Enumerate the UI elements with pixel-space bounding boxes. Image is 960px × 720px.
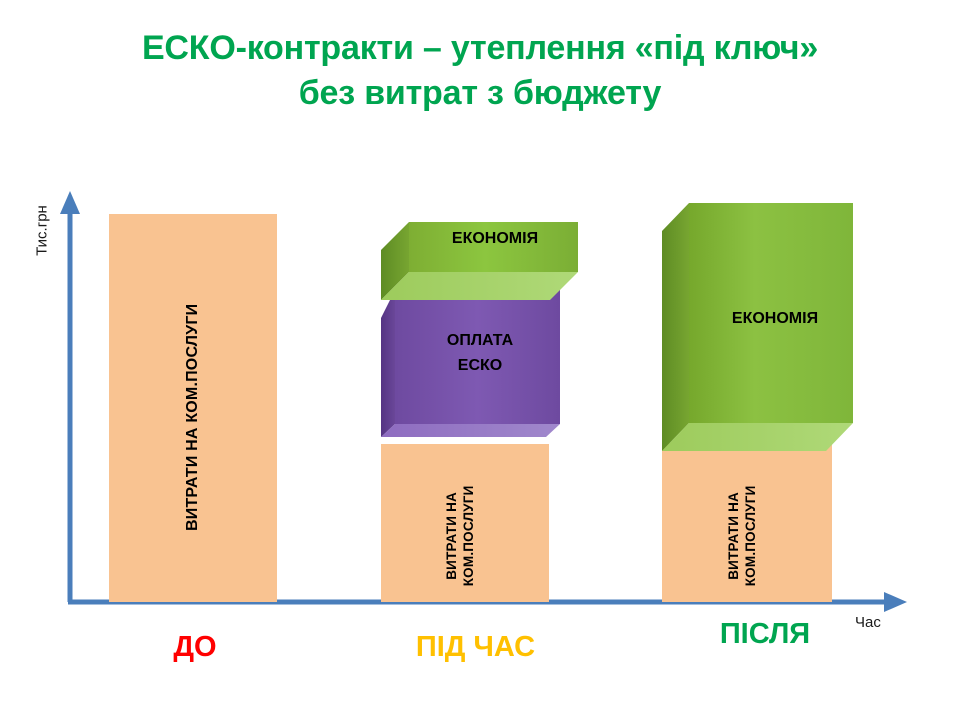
bar-group-during[interactable] <box>381 222 578 602</box>
axis-y <box>60 191 80 602</box>
block-label-esko-payment: ОПЛАТА ЕСКО <box>400 329 560 379</box>
bar-label-utility-before: ВИТРАТИ НА КОМ.ПОСЛУГИ <box>184 351 202 531</box>
category-caption-during: ПІД ЧАС <box>388 631 563 664</box>
block-label-savings-during: ЕКОНОМІЯ <box>410 230 580 248</box>
category-caption-after: ПІСЛЯ <box>690 618 840 651</box>
y-axis-label: Тис.грн <box>34 186 51 276</box>
block-label-savings-after: ЕКОНОМІЯ <box>700 310 850 328</box>
category-caption-before: ДО <box>130 631 260 664</box>
chart-area: Тис.грн Час ВИТРАТИ НА КОМ.ПОСЛУГИ ВИТРА… <box>0 0 960 720</box>
bar-label-utility-during: ВИТРАТИ НА КОМ.ПОСЛУГИ <box>444 456 478 616</box>
bar-label-utility-after: ВИТРАТИ НА КОМ.ПОСЛУГИ <box>726 456 760 616</box>
x-axis-label: Час <box>855 614 881 631</box>
